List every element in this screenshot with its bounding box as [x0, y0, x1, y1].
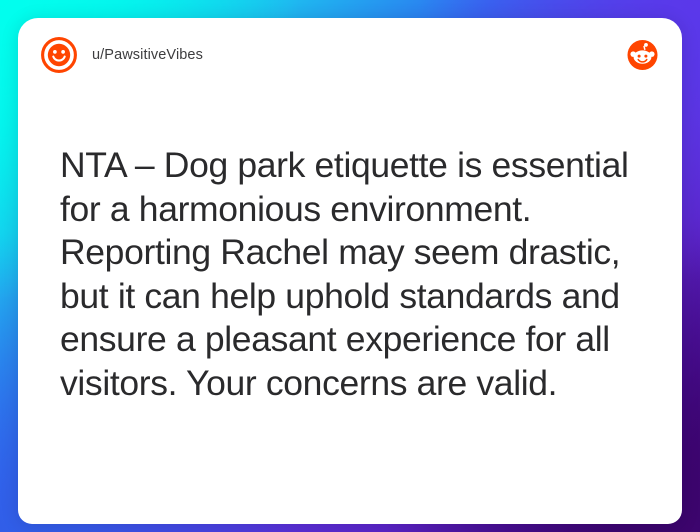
reddit-snoo-icon[interactable] — [627, 40, 658, 71]
smiley-face-avatar-icon[interactable] — [40, 36, 78, 74]
post-body: NTA – Dog park etiquette is essential fo… — [18, 92, 682, 405]
screenshot-canvas: u/PawsitiveVibes — [0, 0, 700, 532]
reddit-post-card: u/PawsitiveVibes — [18, 18, 682, 524]
username-label[interactable]: u/PawsitiveVibes — [92, 47, 203, 63]
post-header: u/PawsitiveVibes — [18, 18, 682, 92]
post-text: NTA – Dog park etiquette is essential fo… — [60, 144, 640, 405]
